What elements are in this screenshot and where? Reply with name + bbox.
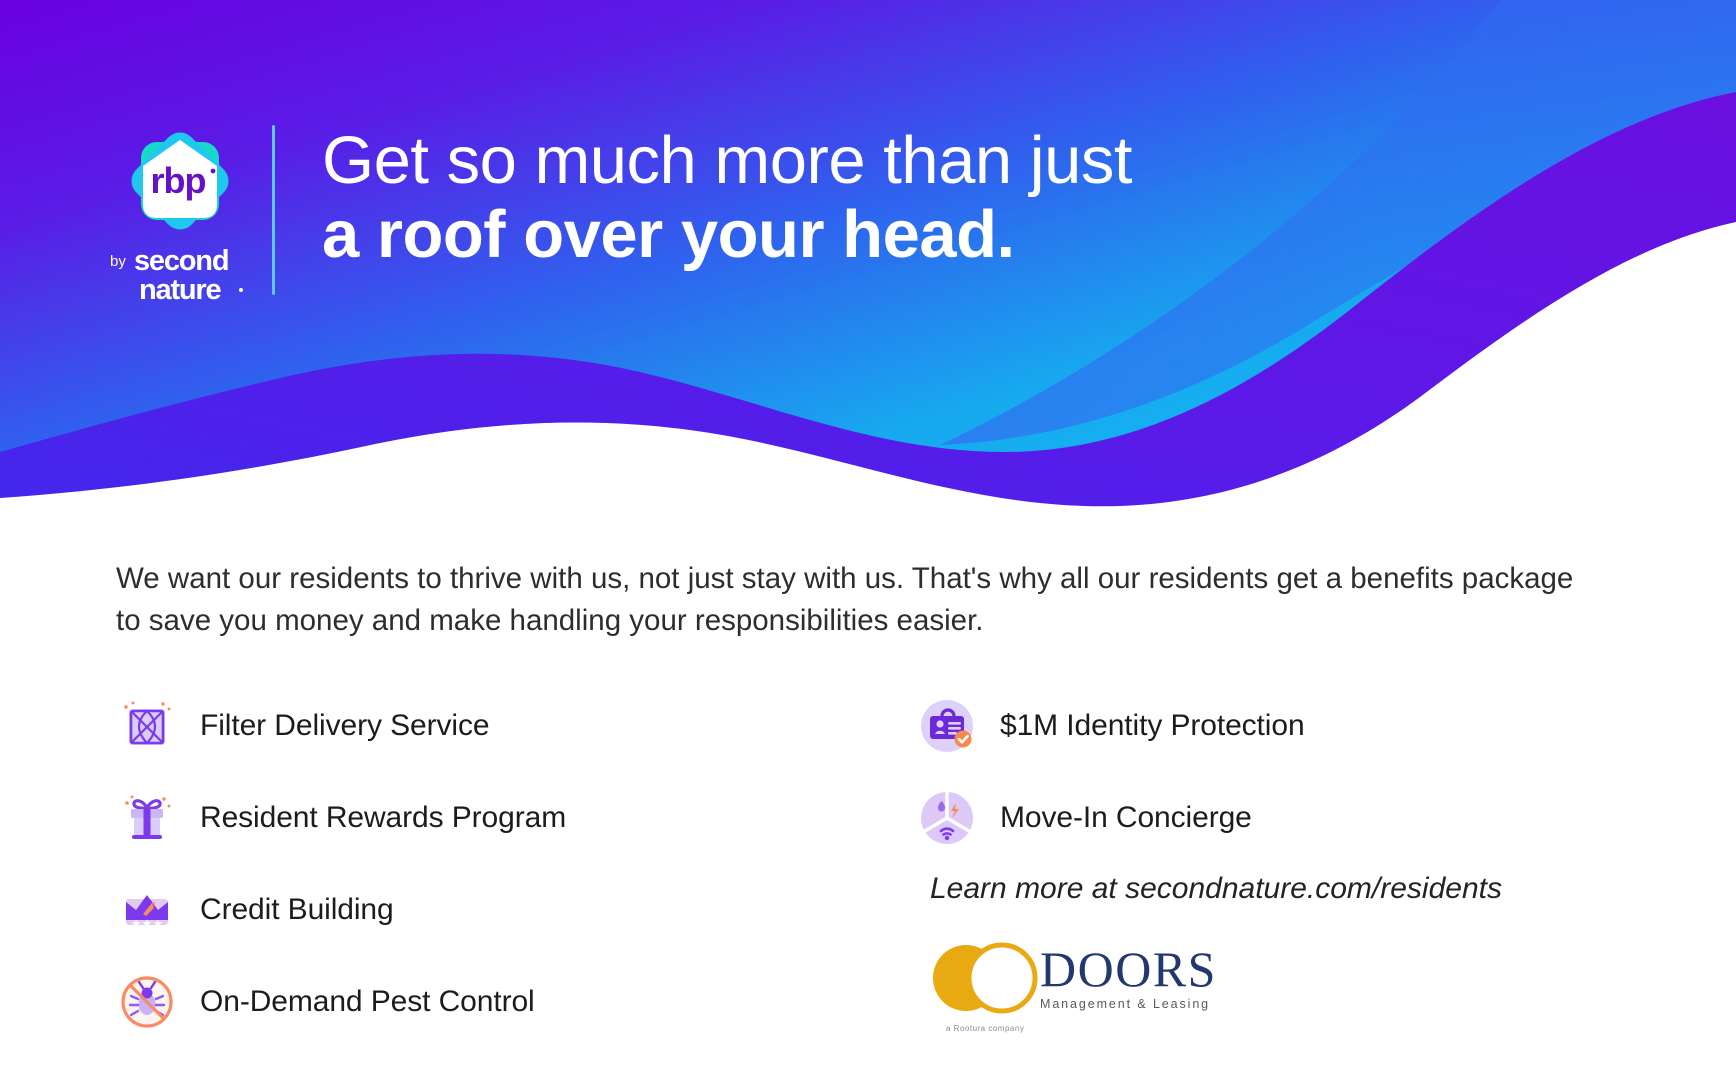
hero-headline: Get so much more than just a roof over y… [322, 126, 1322, 269]
flyer-page: rbp by second nature Get so much more th… [0, 0, 1736, 1080]
rbp-logo-mark-icon: rbp [121, 122, 239, 240]
gift-box-icon [116, 787, 178, 849]
air-filter-icon [116, 695, 178, 757]
rbp-logo-lockup: rbp by second nature [108, 122, 298, 312]
doors-partner-logo: DOORS Management & Leasing a Rootura com… [928, 938, 1228, 1050]
benefits-left-column: Filter Delivery Service [116, 680, 916, 1048]
doors-tagline: a Rootura company [946, 1024, 1024, 1033]
benefit-label: On-Demand Pest Control [200, 985, 535, 1019]
benefit-item-credit-building[interactable]: Credit Building [116, 864, 916, 956]
benefits-section: Filter Delivery Service [116, 680, 1636, 1048]
svg-text:by: by [110, 253, 126, 270]
svg-text:nature: nature [139, 274, 222, 306]
benefit-item-move-in-concierge[interactable]: Move-In Concierge [916, 772, 1616, 864]
doors-text-block: DOORS Management & Leasing [1040, 944, 1230, 1011]
benefit-label: Resident Rewards Program [200, 801, 566, 835]
doors-subtitle: Management & Leasing [1040, 997, 1230, 1011]
svg-text:rbp: rbp [151, 160, 206, 201]
doors-circles-icon [928, 940, 1046, 1018]
benefit-label: Move-In Concierge [1000, 801, 1252, 835]
benefit-label: Filter Delivery Service [200, 709, 489, 743]
second-nature-wordmark: by second nature [108, 244, 258, 306]
hero-divider [272, 125, 275, 295]
intro-paragraph: We want our residents to thrive with us,… [116, 558, 1586, 642]
svg-text:second: second [134, 245, 228, 277]
utilities-circle-icon [916, 787, 978, 849]
benefit-item-pest-control[interactable]: On-Demand Pest Control [116, 956, 916, 1048]
benefit-label: $1M Identity Protection [1000, 709, 1305, 743]
id-badge-check-icon [916, 695, 978, 757]
benefit-item-identity-protection[interactable]: $1M Identity Protection [916, 680, 1616, 772]
benefit-item-resident-rewards[interactable]: Resident Rewards Program [116, 772, 916, 864]
headline-line-1: Get so much more than just [322, 126, 1322, 196]
benefit-label: Credit Building [200, 893, 394, 927]
no-pest-icon [116, 971, 178, 1033]
hero-banner: rbp by second nature Get so much more th… [0, 0, 1736, 510]
crown-stars-icon [116, 879, 178, 941]
doors-title: DOORS [1040, 944, 1230, 994]
headline-line-2: a roof over your head. [322, 200, 1322, 270]
learn-more-text[interactable]: Learn more at secondnature.com/residents [930, 872, 1502, 906]
benefit-item-filter-delivery[interactable]: Filter Delivery Service [116, 680, 916, 772]
